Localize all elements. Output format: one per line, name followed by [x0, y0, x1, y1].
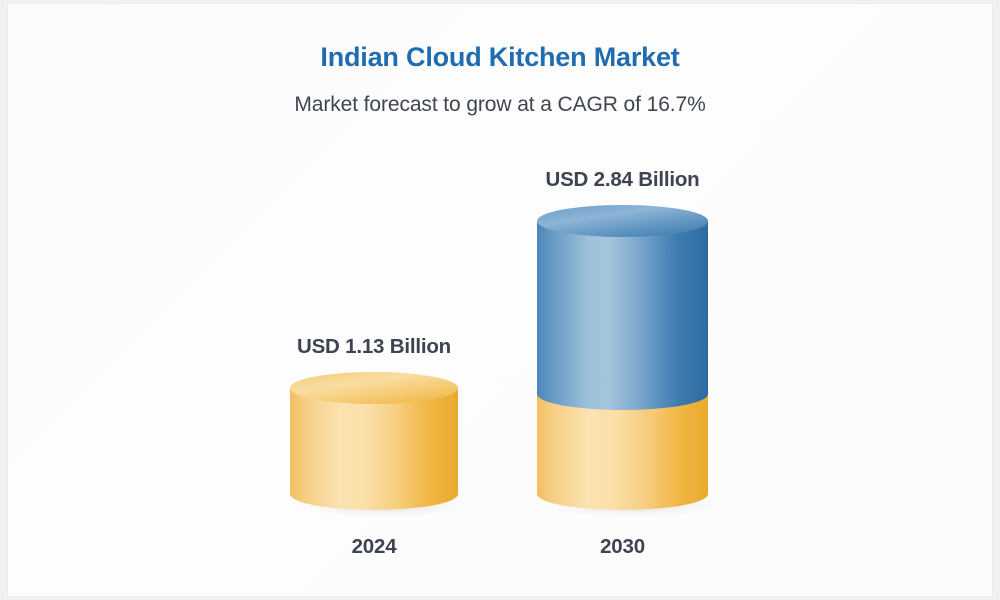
- bar-value-label-2030: USD 2.84 Billion: [537, 168, 708, 192]
- cylinder-2030[interactable]: [537, 205, 717, 517]
- chart-card: Indian Cloud Kitchen Market Market forec…: [8, 4, 992, 596]
- plot-area: USD 1.13 Billion: [8, 4, 992, 596]
- bar-group-2030: USD 2.84 Billion: [537, 4, 708, 596]
- bar-value-label-2024: USD 1.13 Billion: [290, 335, 458, 359]
- bar-group-2024: USD 1.13 Billion: [290, 4, 458, 596]
- cylinder-2024[interactable]: [290, 372, 466, 517]
- bar-category-label-2030: 2030: [537, 535, 708, 559]
- bar-category-label-2024: 2024: [290, 535, 458, 559]
